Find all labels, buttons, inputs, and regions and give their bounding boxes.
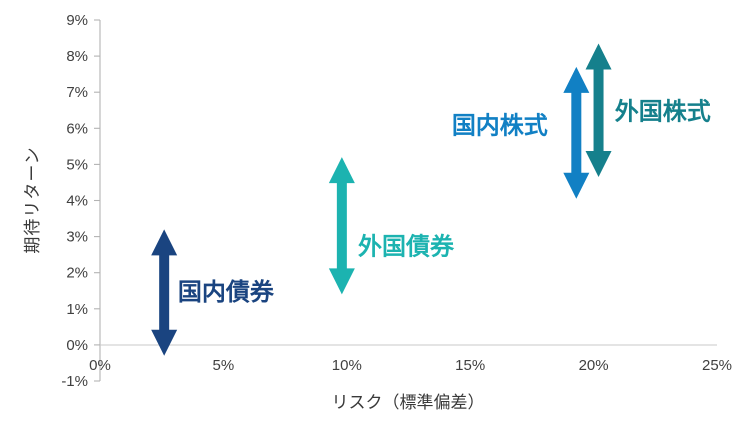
series-label-3: 国内株式 <box>452 113 548 140</box>
y-tick-label: 3% <box>66 229 88 246</box>
chart-background <box>0 0 740 446</box>
chart-page: -1%0%1%2%3%4%5%6%7%8%9% 0%5%10%15%20%25%… <box>0 0 740 446</box>
x-tick-label: 25% <box>702 357 732 374</box>
series-label-2: 外国債券 <box>358 233 455 261</box>
risk-return-chart: -1%0%1%2%3%4%5%6%7%8%9% 0%5%10%15%20%25%… <box>0 0 740 446</box>
y-tick-label: 8% <box>66 48 88 65</box>
y-tick-label: 4% <box>66 193 88 210</box>
x-tick-label: 10% <box>332 357 362 374</box>
y-tick-label: 2% <box>66 265 88 282</box>
x-axis-title: リスク（標準偏差） <box>332 393 485 412</box>
y-tick-label: 5% <box>66 156 88 173</box>
x-tick-label: 15% <box>455 357 485 374</box>
y-tick-label: 0% <box>66 337 88 354</box>
x-tick-label: 5% <box>213 357 235 374</box>
x-tick-label: 0% <box>89 357 111 374</box>
y-tick-label: 9% <box>66 12 88 29</box>
y-tick-label: 1% <box>66 301 88 318</box>
x-tick-label: 20% <box>579 357 609 374</box>
series-label-1: 国内債券 <box>178 278 275 306</box>
y-tick-label: 7% <box>66 84 88 101</box>
y-tick-label: -1% <box>61 373 88 390</box>
series-label-4: 外国株式 <box>615 97 711 125</box>
y-axis-title: 期待リターン <box>23 146 42 253</box>
y-tick-label: 6% <box>66 120 88 137</box>
